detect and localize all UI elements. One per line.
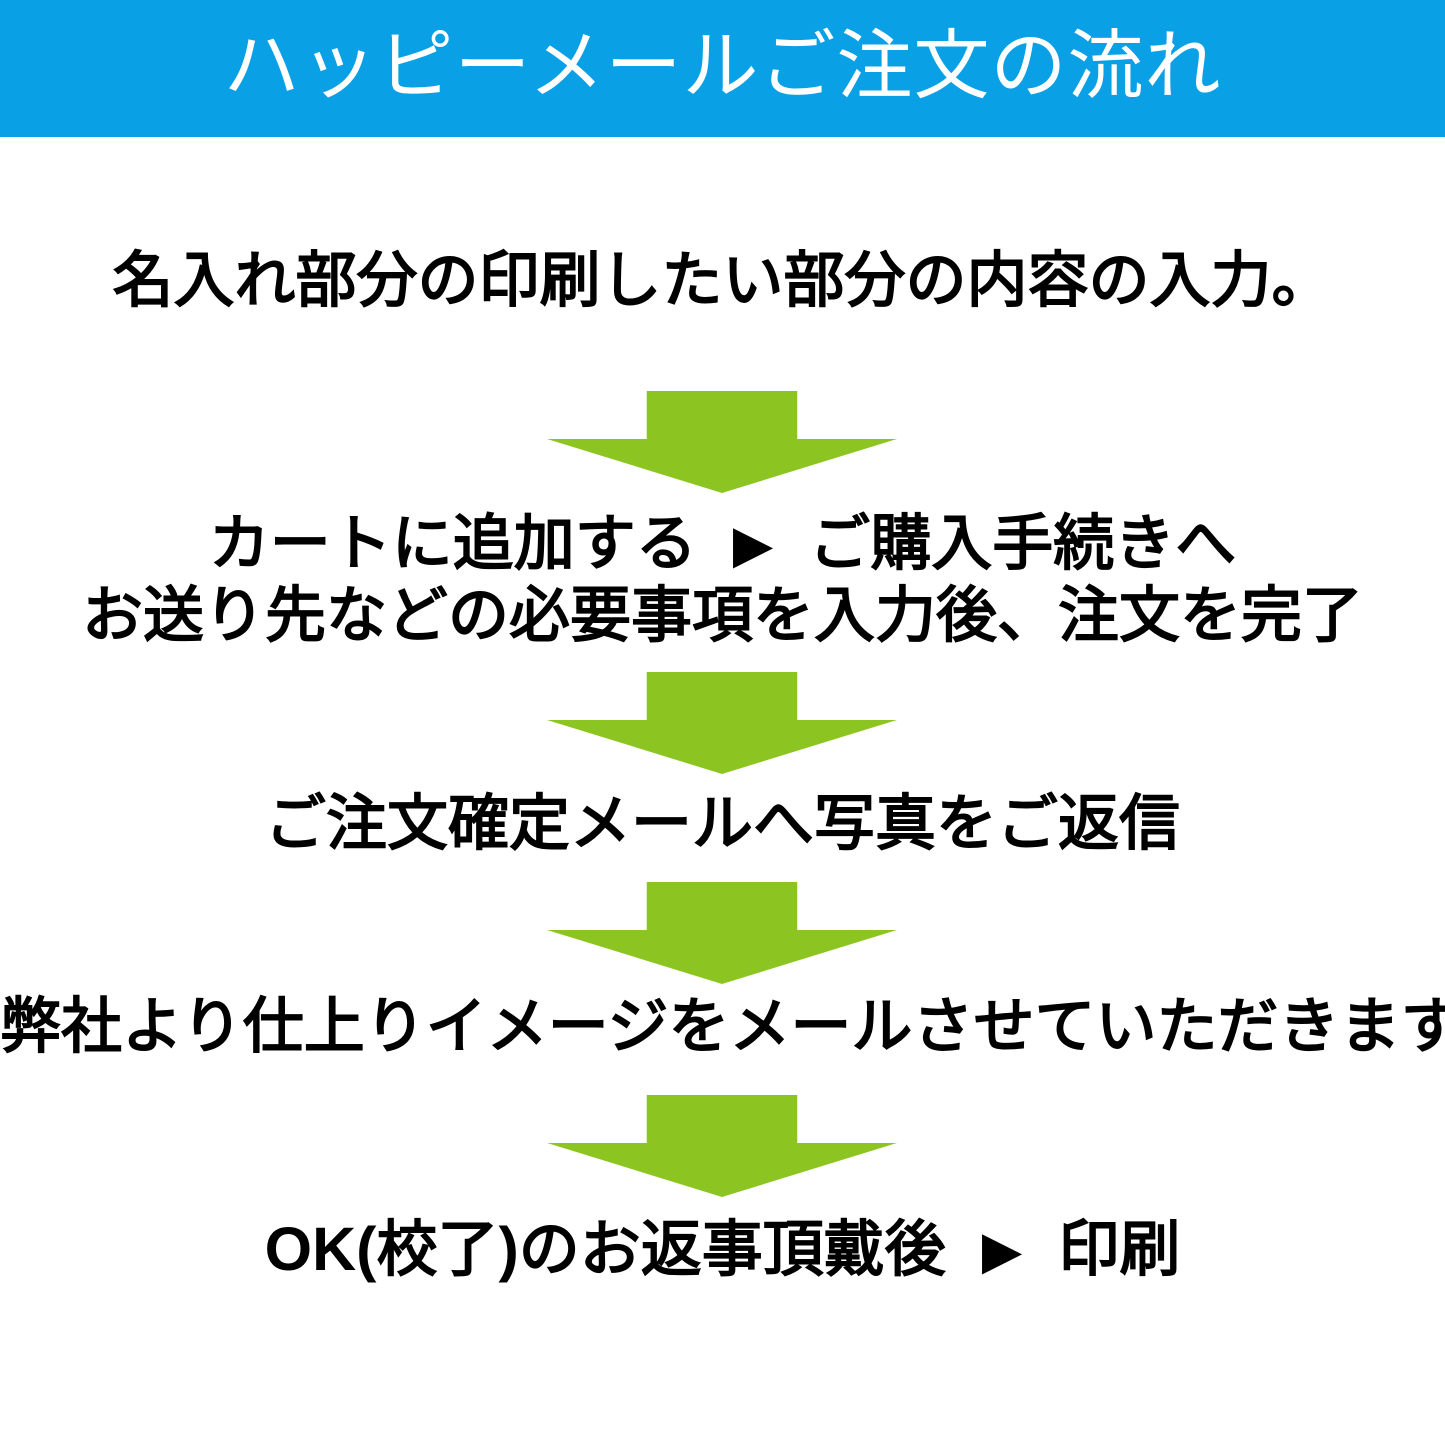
flow-step-5: OK(校了)のお返事頂戴後▶印刷 (0, 1214, 1445, 1286)
down-arrow-icon (547, 882, 897, 984)
flow-diagram-page: ハッピーメールご注文の流れ 名入れ部分の印刷したい部分の内容の入力。 カートに追… (0, 0, 1445, 1445)
flow-step-2-line-2: お送り先などの必要事項を入力後、注文を完了 (0, 580, 1445, 652)
flow-step-4-text: 弊社より仕上りイメージをメールさせていただきます。 (0, 991, 1445, 1063)
right-triangle-icon: ▶ (722, 515, 783, 577)
flow-step-2-text-after: ご購入手続きへ (809, 509, 1236, 577)
flow-step-2-line-1: カートに追加する▶ご購入手続きへ (0, 508, 1445, 580)
down-arrow-icon (547, 1095, 897, 1197)
flow-step-5-text-before: OK(校了)のお返事頂戴後 (265, 1215, 946, 1283)
flow-step-1-text: 名入れ部分の印刷したい部分の内容の入力。 (0, 245, 1445, 317)
flow-step-2: カートに追加する▶ご購入手続きへ お送り先などの必要事項を入力後、注文を完了 (0, 508, 1445, 652)
down-arrow-icon (547, 672, 897, 774)
flow-step-1: 名入れ部分の印刷したい部分の内容の入力。 (0, 245, 1445, 317)
page-title: ハッピーメールご注文の流れ (224, 29, 1222, 105)
flow-step-3-text: ご注文確定メールへ写真をご返信 (0, 788, 1445, 860)
flow-step-5-text-after: 印刷 (1058, 1215, 1180, 1283)
flow-step-2-text-before: カートに追加する (209, 509, 697, 577)
right-triangle-icon: ▶ (971, 1221, 1032, 1283)
flow-step-4: 弊社より仕上りイメージをメールさせていただきます。 (0, 991, 1445, 1063)
flow-body: 名入れ部分の印刷したい部分の内容の入力。 カートに追加する▶ご購入手続きへ お送… (0, 137, 1445, 1445)
flow-step-3: ご注文確定メールへ写真をご返信 (0, 788, 1445, 860)
header-banner: ハッピーメールご注文の流れ (0, 0, 1445, 137)
flow-step-5-line-1: OK(校了)のお返事頂戴後▶印刷 (0, 1214, 1445, 1286)
down-arrow-icon (547, 391, 897, 493)
